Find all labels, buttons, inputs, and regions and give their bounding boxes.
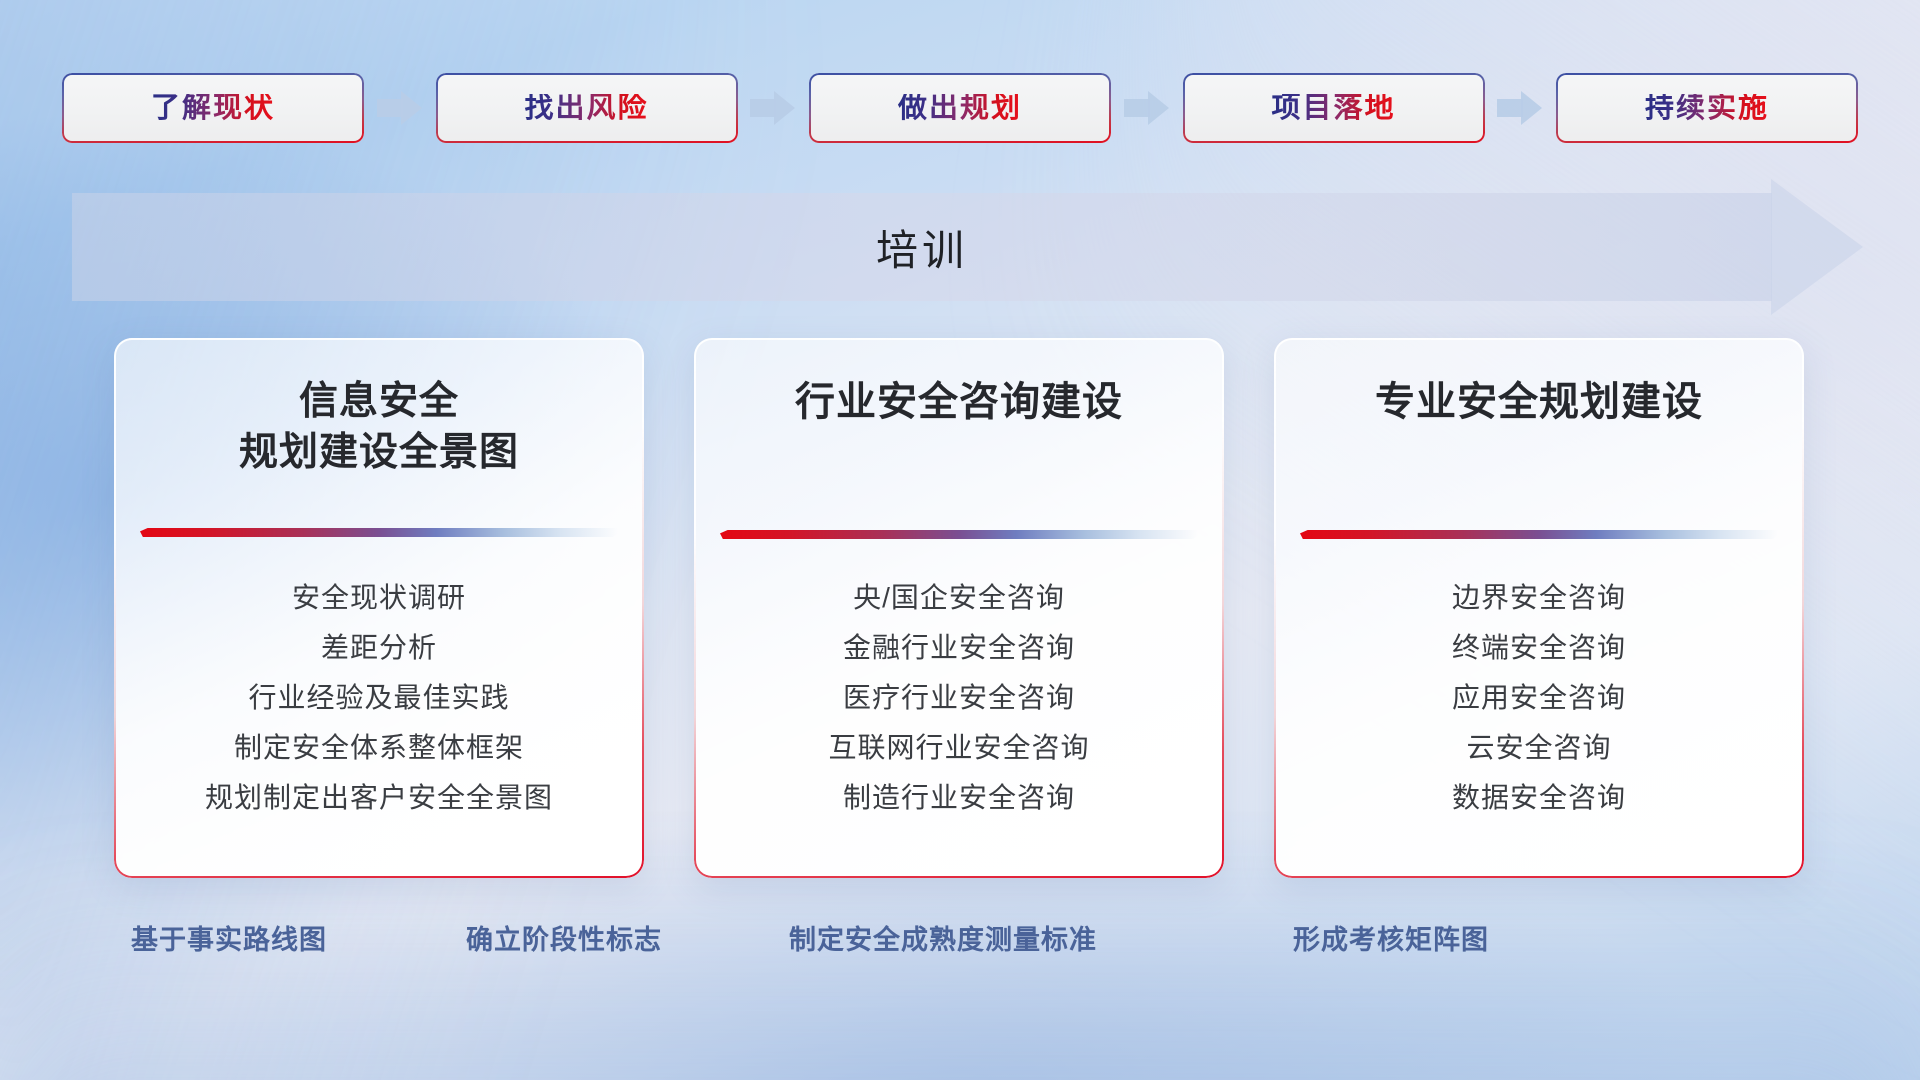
banner-title: 培训 (72, 193, 1772, 301)
card-title-line-1: 信息安全 (132, 376, 626, 427)
list-item: 央/国企安全咨询 (694, 584, 1224, 612)
step-box-1[interactable]: 了解现状 (62, 73, 364, 143)
card-divider-3 (1300, 530, 1778, 539)
card-panorama[interactable]: 信息安全 规划建设全景图 安全现状调研 差距分析 行业经验及最佳实践 制定安全体… (114, 338, 644, 878)
step-box-3[interactable]: 做出规划 (809, 73, 1111, 143)
training-banner: 培训 (72, 193, 1862, 301)
arrow-shaft (750, 99, 776, 117)
arrow-shaft (377, 99, 403, 117)
list-item: 边界安全咨询 (1274, 584, 1804, 612)
list-item: 规划制定出客户安全全景图 (114, 784, 644, 812)
card-title-1: 信息安全 规划建设全景图 (114, 376, 644, 479)
card-divider-2 (720, 530, 1198, 539)
step-label-4: 项目落地 (1271, 94, 1395, 123)
arrow-head (1521, 91, 1542, 125)
card-industry-consulting[interactable]: 行业安全咨询建设 央/国企安全咨询 金融行业安全咨询 医疗行业安全咨询 互联网行… (694, 338, 1224, 878)
list-item: 制定安全体系整体框架 (114, 734, 644, 762)
list-item: 金融行业安全咨询 (694, 634, 1224, 662)
step-arrow-icon-1 (377, 91, 423, 125)
footnote-row: 基于事实路线图 确立阶段性标志 制定安全成熟度测量标准 形成考核矩阵图 (0, 918, 1920, 962)
process-step-row: 了解现状 找出风险 做出规划 项目落地 持续实施 (62, 72, 1858, 144)
step-label-1: 了解现状 (151, 94, 275, 123)
card-divider-1 (140, 528, 618, 537)
step-label-3: 做出规划 (898, 94, 1022, 123)
card-professional-planning[interactable]: 专业安全规划建设 边界安全咨询 终端安全咨询 应用安全咨询 云安全咨询 数据安全… (1274, 338, 1804, 878)
card-list-3: 边界安全咨询 终端安全咨询 应用安全咨询 云安全咨询 数据安全咨询 (1274, 584, 1804, 834)
slide-canvas: 了解现状 找出风险 做出规划 项目落地 持续实施 (0, 0, 1920, 1080)
arrow-shaft (1497, 99, 1523, 117)
list-item: 行业经验及最佳实践 (114, 684, 644, 712)
list-item: 数据安全咨询 (1274, 784, 1804, 812)
step-arrow-icon-2 (750, 91, 796, 125)
card-title-line-1: 专业安全规划建设 (1292, 376, 1786, 429)
list-item: 云安全咨询 (1274, 734, 1804, 762)
card-group: 信息安全 规划建设全景图 安全现状调研 差距分析 行业经验及最佳实践 制定安全体… (0, 338, 1920, 878)
step-arrow-icon-4 (1497, 91, 1543, 125)
step-arrow-icon-3 (1124, 91, 1170, 125)
footnote-4: 形成考核矩阵图 (1293, 918, 1489, 962)
card-title-3: 专业安全规划建设 (1274, 376, 1804, 429)
card-list-1: 安全现状调研 差距分析 行业经验及最佳实践 制定安全体系整体框架 规划制定出客户… (114, 584, 644, 834)
arrow-shaft (1124, 99, 1150, 117)
card-title-line-1: 行业安全咨询建设 (712, 376, 1206, 429)
card-list-2: 央/国企安全咨询 金融行业安全咨询 医疗行业安全咨询 互联网行业安全咨询 制造行… (694, 584, 1224, 834)
list-item: 差距分析 (114, 634, 644, 662)
step-box-5[interactable]: 持续实施 (1556, 73, 1858, 143)
step-label-2: 找出风险 (524, 94, 648, 123)
list-item: 应用安全咨询 (1274, 684, 1804, 712)
footnote-1: 基于事实路线图 (131, 918, 327, 962)
footnote-2: 确立阶段性标志 (466, 918, 662, 962)
list-item: 终端安全咨询 (1274, 634, 1804, 662)
list-item: 医疗行业安全咨询 (694, 684, 1224, 712)
step-label-5: 持续实施 (1645, 94, 1769, 123)
footnote-3: 制定安全成熟度测量标准 (789, 918, 1097, 962)
banner-arrow-head-icon (1771, 179, 1863, 315)
card-title-2: 行业安全咨询建设 (694, 376, 1224, 429)
list-item: 互联网行业安全咨询 (694, 734, 1224, 762)
step-box-2[interactable]: 找出风险 (436, 73, 738, 143)
list-item: 制造行业安全咨询 (694, 784, 1224, 812)
step-box-4[interactable]: 项目落地 (1183, 73, 1485, 143)
arrow-head (1148, 91, 1169, 125)
arrow-head (774, 91, 795, 125)
card-title-line-2: 规划建设全景图 (132, 427, 626, 478)
list-item: 安全现状调研 (114, 584, 644, 612)
arrow-head (401, 91, 422, 125)
